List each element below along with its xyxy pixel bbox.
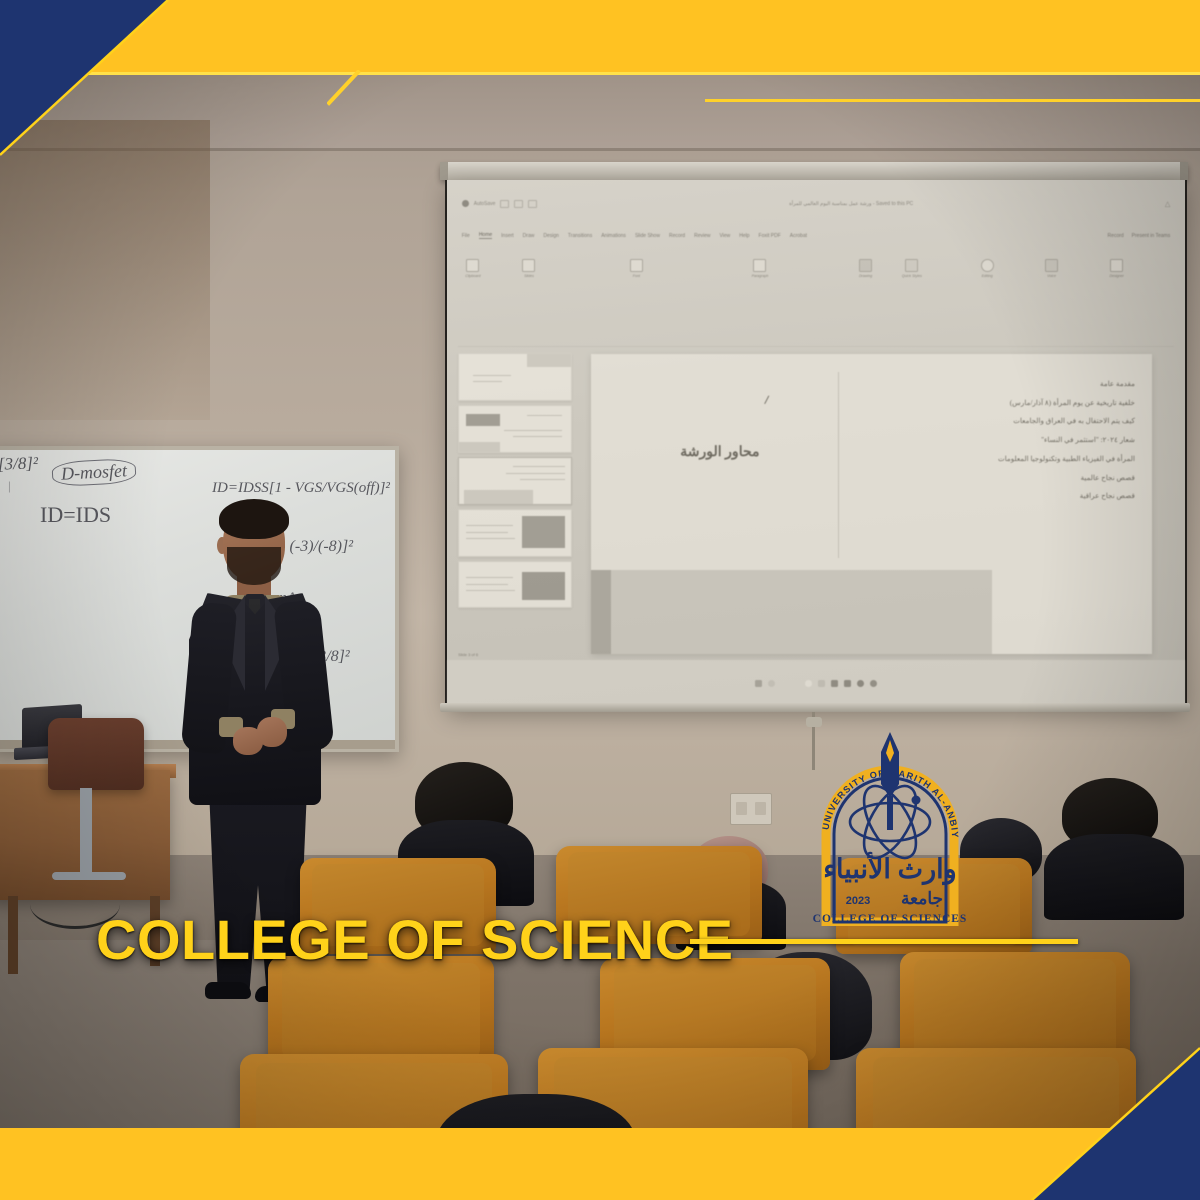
slide-thumbnail-pane[interactable]: [458, 351, 572, 659]
tab-transitions[interactable]: Transitions: [568, 233, 592, 239]
windows-taskbar[interactable]: [447, 660, 1185, 707]
presenter-hair: [219, 499, 289, 539]
quick-styles-icon[interactable]: [905, 259, 918, 272]
chrome-icon[interactable]: [805, 680, 812, 687]
ribbon-group-label: Designer: [1109, 274, 1123, 278]
slide-thumbnail[interactable]: [458, 561, 572, 609]
ribbon-group-label: Font: [633, 274, 640, 278]
tab-view[interactable]: View: [719, 233, 730, 239]
slide-title: محاور الورشة: [619, 444, 821, 461]
ppt-ribbon: Clipboard Slides Font Paragraph: [458, 251, 1174, 347]
presenter-shoe: [205, 982, 251, 999]
auditorium-seat: [268, 956, 494, 1068]
audience-body: [1044, 834, 1184, 920]
page-title: COLLEGE OF SCIENCE: [96, 912, 734, 968]
ribbon-group-label: Quick Styles: [902, 274, 922, 278]
slide-thumbnail[interactable]: [458, 405, 572, 453]
tab-home[interactable]: Home: [479, 232, 492, 239]
slide-bullet: قصص نجاح عراقية: [843, 487, 1135, 506]
wall-socket: [730, 793, 772, 825]
find-icon[interactable]: [981, 259, 994, 272]
presenter-hand: [257, 717, 287, 747]
slide-thumbnail-selected[interactable]: [458, 457, 572, 505]
slide-slash-mark: /: [763, 393, 769, 407]
slide-bullet: قصص نجاح عالمية: [843, 469, 1135, 488]
save-icon[interactable]: [500, 200, 509, 208]
slide-divider: [838, 372, 839, 558]
projector-screen-roller: [440, 162, 1188, 180]
slide-bullet: مقدمة عامة: [843, 375, 1135, 394]
brand-headline-rule: [690, 939, 1078, 944]
dictate-icon[interactable]: [1045, 259, 1058, 272]
tab-insert[interactable]: Insert: [501, 233, 514, 239]
start-icon[interactable]: [755, 680, 762, 687]
paste-icon[interactable]: [466, 259, 479, 272]
designer-icon[interactable]: [1110, 259, 1123, 272]
slide-accent-bar: [591, 570, 611, 654]
paragraph-icon[interactable]: [753, 259, 766, 272]
teams-icon[interactable]: [844, 680, 851, 687]
ribbon-group-label: Paragraph: [752, 274, 769, 278]
tab-draw[interactable]: Draw: [523, 233, 535, 239]
folder-icon[interactable]: [818, 680, 825, 687]
tab-slide-show[interactable]: Slide Show: [635, 233, 660, 239]
ribbon-group-label: Voice: [1047, 274, 1056, 278]
ribbon-group-label: Editing: [982, 274, 993, 278]
slide-accent-block: [599, 570, 992, 654]
new-slide-icon[interactable]: [522, 259, 535, 272]
slide-bullet: خلفية تاريخية عن يوم المرأة (٨ آذار/مارس…: [843, 394, 1135, 413]
ribbon-group-label: Clipboard: [465, 274, 480, 278]
record-icon[interactable]: [870, 680, 877, 687]
desk-leg: [8, 896, 18, 974]
office-chair-foot: [52, 872, 126, 880]
whiteboard-note: [3/8]²: [0, 453, 38, 474]
autosave-label: AutoSave: [474, 201, 496, 207]
tab-help[interactable]: Help: [739, 233, 749, 239]
tab-file[interactable]: File: [462, 233, 470, 239]
tab-design[interactable]: Design: [543, 233, 559, 239]
brand-headline: COLLEGE OF SCIENCE: [96, 912, 734, 968]
account-icon[interactable]: △: [1165, 200, 1170, 208]
ppt-document-title: ورشة عمل بمناسبة اليوم العالمي للمرأة - …: [542, 201, 1159, 207]
ribbon-group-label: Drawing: [859, 274, 872, 278]
tab-acrobat[interactable]: Acrobat: [790, 233, 807, 239]
font-icon[interactable]: [630, 259, 643, 272]
office-chair-base: [80, 788, 92, 878]
event-photograph: [3/8]² D-mosfet ID=IDS ID=IDSS[1 - VGS/V…: [0, 0, 1200, 1200]
slide-thumbnail[interactable]: [458, 353, 572, 401]
ribbon-group-label: Slides: [524, 274, 534, 278]
powerpoint-icon: [462, 200, 469, 207]
undo-icon[interactable]: [514, 200, 523, 208]
tab-review[interactable]: Review: [694, 233, 710, 239]
university-logo: UNIVERSITY OF WARITH AL-ANBIYA وارث الأن…: [806, 726, 974, 926]
logo-arabic-name: وارث الأنبياء: [823, 852, 956, 886]
top-yellow-bar: [0, 0, 1200, 72]
office-chair: [48, 718, 144, 790]
logo-footer-text: COLLEGE OF SCIENCES: [813, 913, 968, 925]
search-icon[interactable]: [768, 680, 775, 687]
projector-screen-bottom-bar: [440, 703, 1190, 712]
ppt-ribbon-tabs[interactable]: File Home Insert Draw Design Transitions…: [462, 225, 1170, 246]
corner-triangle-top-left: [0, 0, 168, 155]
redo-icon[interactable]: [528, 200, 537, 208]
presenter-beard: [227, 547, 281, 585]
viber-icon[interactable]: [857, 680, 864, 687]
shapes-icon[interactable]: [859, 259, 872, 272]
logo-arabic-sub: جامعة: [901, 889, 943, 908]
ppt-titlebar: AutoSave ورشة عمل بمناسبة اليوم العالمي …: [462, 188, 1170, 220]
projected-powerpoint: AutoSave ورشة عمل بمناسبة اليوم العالمي …: [447, 180, 1185, 707]
present-in-teams-button[interactable]: Present in Teams: [1132, 233, 1171, 239]
powerpoint-icon[interactable]: [831, 680, 838, 687]
bottom-yellow-bar: [0, 1128, 1200, 1200]
whiteboard-note: ID=IDS: [40, 502, 111, 528]
record-button[interactable]: Record: [1108, 233, 1124, 239]
slide-status-text: Slide 3 of 6: [458, 652, 478, 657]
poster-canvas: [3/8]² D-mosfet ID=IDS ID=IDSS[1 - VGS/V…: [0, 0, 1200, 1200]
whiteboard-note: D-mosfet: [51, 458, 136, 487]
corner-triangle-bottom-right: [1032, 1048, 1200, 1200]
top-yellow-bar-underline: [0, 72, 1200, 75]
slide-canvas[interactable]: / محاور الورشة مقدمة عامة خلفية تاريخية …: [591, 354, 1152, 654]
slide-bullet-list: مقدمة عامة خلفية تاريخية عن يوم المرأة (…: [843, 375, 1135, 506]
slide-bullet: المرأة في الفيزياء الطبية وتكنولوجيا الم…: [843, 450, 1135, 469]
tab-record[interactable]: Record: [669, 233, 685, 239]
logo-year: 2023: [846, 895, 870, 907]
top-accent-rule: [705, 99, 1200, 102]
slide-bullet: شعار ٢٠٢٤: "استثمر في النساء": [843, 431, 1135, 450]
projector-screen: AutoSave ورشة عمل بمناسبة اليوم العالمي …: [447, 180, 1185, 707]
slide-bullet: كيف يتم الاحتفال به في العراق والجامعات: [843, 412, 1135, 431]
wall-shadow-left: [0, 120, 210, 420]
tab-animations[interactable]: Animations: [601, 233, 626, 239]
tab-foxit-pdf[interactable]: Foxit PDF: [759, 233, 781, 239]
slide-thumbnail[interactable]: [458, 509, 572, 557]
